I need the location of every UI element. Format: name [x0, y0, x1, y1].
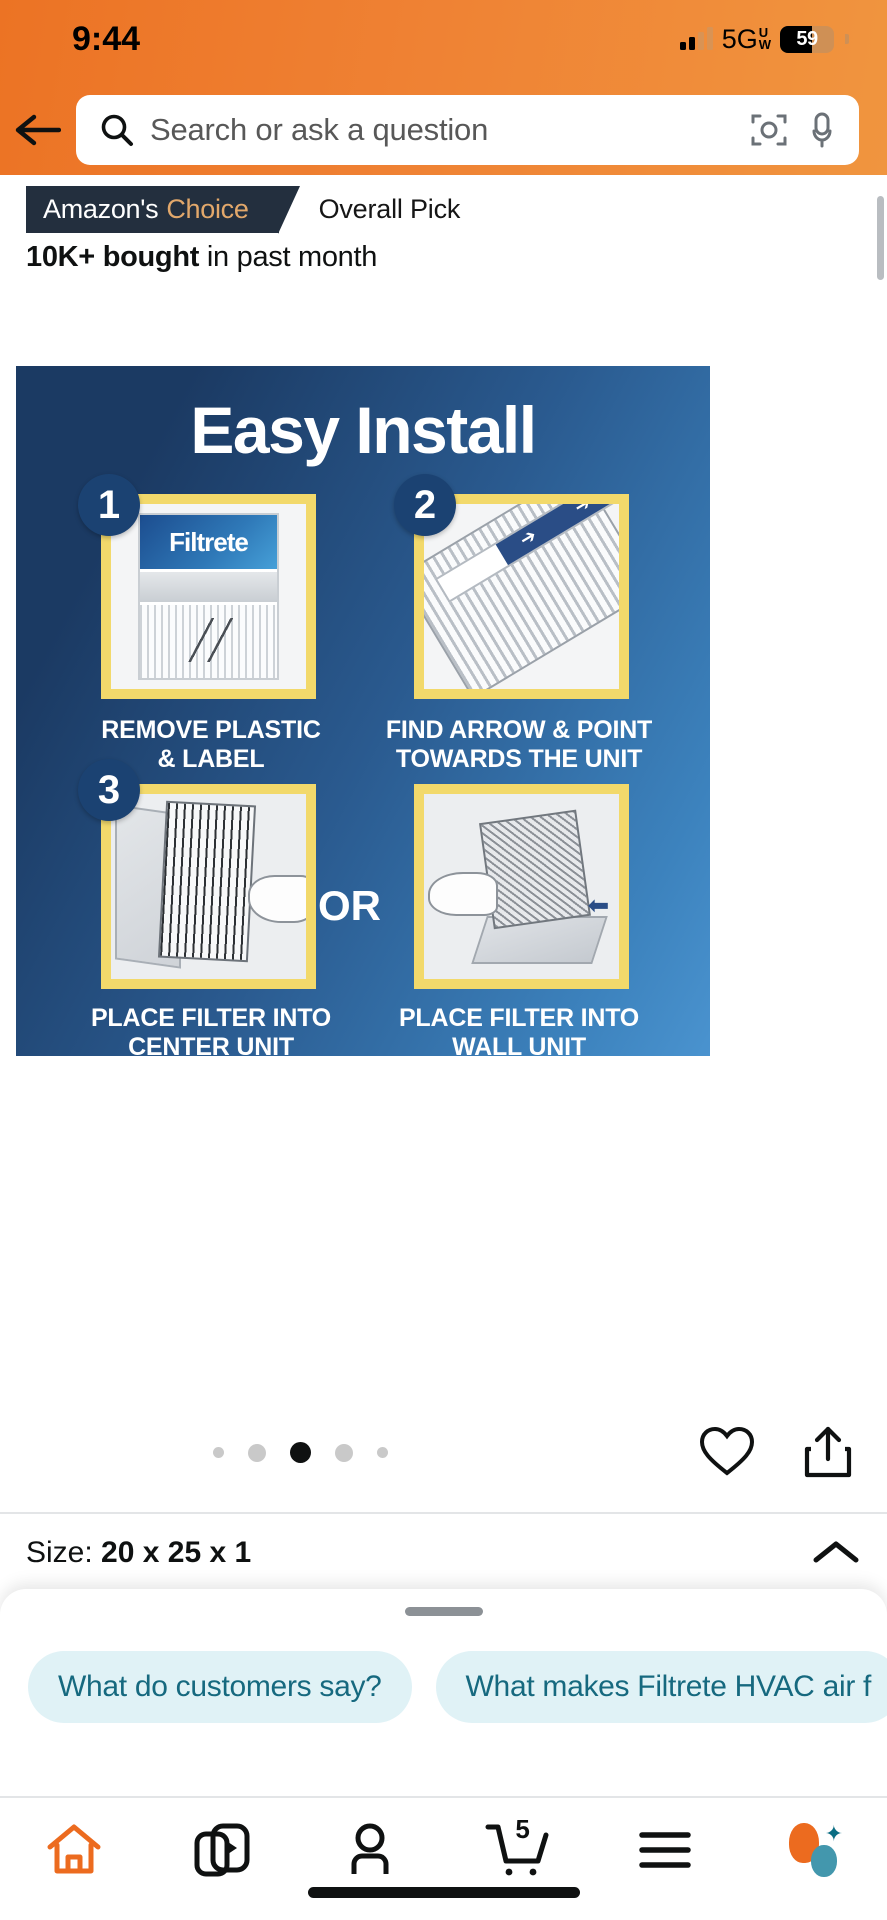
size-selector-row[interactable]: Size: 20 x 25 x 1	[0, 1518, 887, 1588]
amazons-choice-badge[interactable]: Amazon's Choice	[26, 186, 279, 233]
status-bar-indicators: 5G U W 59	[680, 24, 849, 55]
step-4-caption: PLACE FILTER INTO WALL UNIT	[328, 1004, 710, 1056]
share-icon[interactable]	[803, 1425, 853, 1479]
chevron-up-icon[interactable]	[811, 1538, 861, 1568]
search-icon	[100, 113, 134, 147]
step-1-image-frame: Filtrete	[101, 494, 316, 699]
battery-percent-label: 59	[780, 28, 834, 51]
microphone-icon[interactable]	[805, 109, 839, 151]
size-label: Size: 20 x 25 x 1	[26, 1536, 251, 1570]
rufus-chip[interactable]: What makes Filtrete HVAC air f	[436, 1651, 887, 1723]
bought-count-text: 10K+ bought in past month	[26, 241, 377, 274]
nav-item-home[interactable]	[14, 1816, 134, 1884]
hand-illustration	[428, 872, 498, 916]
hand-illustration	[248, 875, 307, 923]
search-placeholder-text: Search or ask a question	[150, 112, 733, 148]
nav-item-rufus[interactable]: ✦	[753, 1816, 873, 1884]
carousel-dot[interactable]	[248, 1444, 266, 1462]
airflow-arrow-icon: ➔	[516, 524, 541, 552]
package-brand-band: Filtrete	[140, 515, 276, 569]
step-4-image-frame: ⬅	[414, 784, 629, 989]
center-unit-install-art	[111, 794, 306, 979]
size-label-text: Size:	[26, 1536, 93, 1569]
heart-icon[interactable]	[699, 1426, 755, 1478]
step-2-artwork: ➔ ➔	[424, 504, 619, 689]
cellular-signal-icon	[680, 28, 713, 50]
home-indicator	[308, 1887, 580, 1898]
package-label-band	[140, 569, 276, 605]
image-action-buttons	[699, 1425, 853, 1479]
amazons-choice-suffix: Choice	[166, 194, 248, 225]
rufus-assistant-icon: ✦	[785, 1823, 841, 1877]
carousel-dot[interactable]	[213, 1447, 224, 1458]
battery-tip	[845, 34, 849, 44]
direction-arrow-icon: ⬅	[587, 890, 609, 921]
rufus-chip[interactable]: What do customers say?	[28, 1651, 412, 1723]
network-uw-suffix: U W	[759, 27, 771, 51]
status-bar: 9:44 5G U W 59	[0, 0, 887, 78]
app-header: 9:44 5G U W 59	[0, 0, 887, 175]
carousel-dot-active[interactable]	[290, 1442, 311, 1463]
sheet-drag-handle[interactable]	[405, 1607, 483, 1616]
wall-unit-housing	[471, 916, 608, 964]
or-separator-label: OR	[318, 882, 381, 930]
hamburger-menu-icon	[637, 1828, 693, 1872]
search-row: Search or ask a question	[0, 92, 887, 168]
wall-unit-install-art: ⬅	[424, 794, 619, 979]
network-type-text: 5G	[722, 24, 758, 55]
search-input[interactable]: Search or ask a question	[76, 95, 859, 165]
size-value: 20 x 25 x 1	[101, 1536, 251, 1569]
filtrete-logo: Filtrete	[169, 527, 248, 558]
amazons-choice-row: Amazon's Choice Overall Pick	[26, 186, 460, 233]
step-4-caption-line1: PLACE FILTER INTO	[328, 1004, 710, 1033]
page-scrollbar[interactable]	[877, 196, 884, 280]
cart-item-count-badge: 5	[515, 1814, 529, 1845]
step-4-artwork: ⬅	[424, 794, 619, 979]
overall-pick-label: Overall Pick	[319, 194, 461, 225]
step-1-artwork: Filtrete	[111, 504, 306, 689]
angled-filter-art: ➔ ➔	[424, 504, 619, 689]
reels-video-icon	[193, 1822, 251, 1878]
product-image-easy-install[interactable]: Easy Install 1 Filtrete REMOVE PLASTIC &…	[16, 366, 710, 1056]
bottom-navigation-bar: 5 ✦	[0, 1796, 887, 1920]
step-2-caption-line2: TOWARDS THE UNIT	[328, 745, 710, 774]
filter-being-inserted	[158, 801, 256, 963]
nav-item-reels[interactable]	[162, 1816, 282, 1884]
step-number-1: 1	[78, 474, 140, 536]
filter-package-art: Filtrete	[138, 513, 278, 680]
carousel-dot[interactable]	[335, 1444, 353, 1462]
rufus-chip-list: What do customers say? What makes Filtre…	[28, 1651, 887, 1723]
step-4-caption-line2: WALL UNIT	[328, 1033, 710, 1056]
back-button[interactable]	[0, 113, 76, 147]
carousel-dot[interactable]	[377, 1447, 388, 1458]
section-divider	[0, 1512, 887, 1514]
nav-item-cart[interactable]: 5	[457, 1816, 577, 1884]
sparkle-icon: ✦	[825, 1821, 843, 1847]
person-account-icon	[344, 1822, 396, 1878]
bought-count-period: in past month	[207, 241, 377, 273]
step-number-3: 3	[78, 759, 140, 821]
step-2-caption: FIND ARROW & POINT TOWARDS THE UNIT	[328, 716, 710, 774]
rufus-suggestion-sheet[interactable]: What do customers say? What makes Filtre…	[0, 1589, 887, 1801]
hero-title: Easy Install	[16, 392, 710, 468]
step-3-artwork	[111, 794, 306, 979]
rufus-teal-blob	[811, 1845, 837, 1877]
package-pleats	[140, 605, 276, 678]
amazons-choice-prefix: Amazon's	[43, 194, 158, 225]
step-number-2: 2	[394, 474, 456, 536]
nav-item-account[interactable]	[310, 1816, 430, 1884]
amazon-product-page-screen: 9:44 5G U W 59	[0, 0, 887, 1920]
battery-icon: 59	[780, 26, 834, 53]
carousel-dots[interactable]	[0, 1442, 600, 1463]
lens-camera-icon[interactable]	[749, 110, 789, 150]
network-type-label: 5G U W	[722, 24, 771, 55]
home-icon	[45, 1823, 103, 1877]
bought-count-value: 10K+ bought	[26, 241, 199, 273]
wall-grille	[479, 810, 590, 930]
nav-item-menu[interactable]	[605, 1816, 725, 1884]
arrow-left-icon	[15, 113, 61, 147]
step-3-image-frame	[101, 784, 316, 989]
step-2-caption-line1: FIND ARROW & POINT	[328, 716, 710, 745]
status-bar-clock: 9:44	[72, 20, 140, 59]
network-uw-bottom: W	[759, 39, 771, 51]
